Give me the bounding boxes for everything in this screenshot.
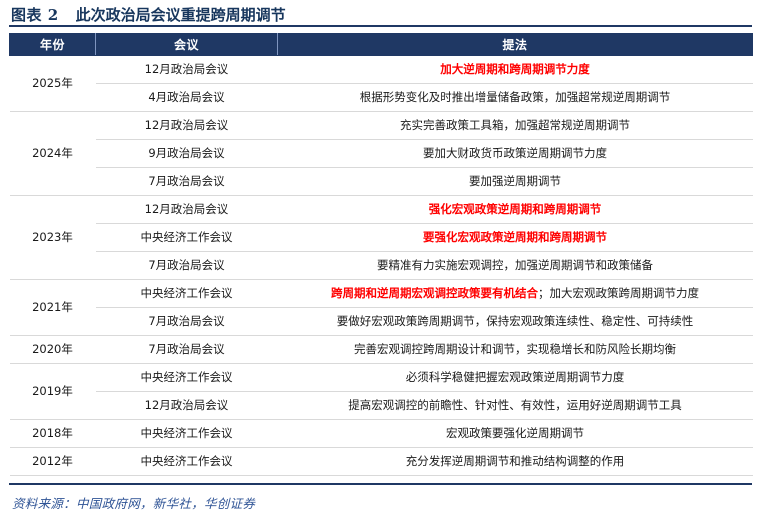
exhibit-number-label: 图表 2 [11, 4, 59, 25]
cell-quote: 要加强逆周期调节 [278, 168, 753, 196]
cell-meeting: 中央经济工作会议 [96, 280, 278, 308]
cell-meeting: 7月政治局会议 [96, 252, 278, 280]
cell-meeting: 12月政治局会议 [96, 56, 278, 84]
table-row: 中央经济工作会议要强化宏观政策逆周期和跨周期调节 [10, 224, 753, 252]
cell-year: 2021年 [10, 280, 96, 336]
cell-year: 2024年 [10, 112, 96, 196]
quote-plain: 要加大财政货币政策逆周期调节力度 [423, 146, 607, 160]
cell-year: 2025年 [10, 56, 96, 112]
cell-quote: 提高宏观调控的前瞻性、针对性、有效性，运用好逆周期调节工具 [278, 392, 753, 420]
cell-meeting: 7月政治局会议 [96, 336, 278, 364]
cell-meeting: 中央经济工作会议 [96, 364, 278, 392]
quote-plain: 完善宏观调控跨周期设计和调节，实现稳增长和防风险长期均衡 [354, 342, 676, 356]
exhibit-title-text: 此次政治局会议重提跨周期调节 [76, 4, 286, 25]
table-row: 2020年7月政治局会议完善宏观调控跨周期设计和调节，实现稳增长和防风险长期均衡 [10, 336, 753, 364]
cell-meeting: 12月政治局会议 [96, 392, 278, 420]
quote-plain: 必须科学稳健把握宏观政策逆周期调节力度 [406, 370, 625, 384]
column-header-year: 年份 [10, 34, 96, 56]
cell-year: 2023年 [10, 196, 96, 280]
table-row: 2024年12月政治局会议充实完善政策工具箱，加强超常规逆周期调节 [10, 112, 753, 140]
cell-year: 2020年 [10, 336, 96, 364]
table-row: 7月政治局会议要加强逆周期调节 [10, 168, 753, 196]
quote-plain: 充实完善政策工具箱，加强超常规逆周期调节 [400, 118, 630, 132]
table-row: 2023年12月政治局会议强化宏观政策逆周期和跨周期调节 [10, 196, 753, 224]
quote-highlight: 加大逆周期和跨周期调节力度 [440, 62, 590, 76]
cell-meeting: 7月政治局会议 [96, 168, 278, 196]
column-header-meeting: 会议 [96, 34, 278, 56]
table-row: 2021年中央经济工作会议跨周期和逆周期宏观调控政策要有机结合；加大宏观政策跨周… [10, 280, 753, 308]
quote-plain: 充分发挥逆周期调节和推动结构调整的作用 [406, 454, 625, 468]
column-header-quote: 提法 [278, 34, 753, 56]
cell-meeting: 7月政治局会议 [96, 308, 278, 336]
quote-plain: 要做好宏观政策跨周期调节，保持宏观政策连续性、稳定性、可持续性 [337, 314, 694, 328]
quote-plain: ；加大宏观政策跨周期调节力度 [538, 286, 699, 300]
cell-meeting: 9月政治局会议 [96, 140, 278, 168]
cell-meeting: 中央经济工作会议 [96, 224, 278, 252]
cell-meeting: 中央经济工作会议 [96, 448, 278, 476]
quote-plain: 要精准有力实施宏观调控，加强逆周期调节和政策储备 [377, 258, 653, 272]
cell-quote: 强化宏观政策逆周期和跨周期调节 [278, 196, 753, 224]
cell-year: 2012年 [10, 448, 96, 476]
table-row: 2012年中央经济工作会议充分发挥逆周期调节和推动结构调整的作用 [10, 448, 753, 476]
cell-quote: 根据形势变化及时推出增量储备政策，加强超常规逆周期调节 [278, 84, 753, 112]
cell-quote: 要做好宏观政策跨周期调节，保持宏观政策连续性、稳定性、可持续性 [278, 308, 753, 336]
table-row: 4月政治局会议根据形势变化及时推出增量储备政策，加强超常规逆周期调节 [10, 84, 753, 112]
table-body: 2025年12月政治局会议加大逆周期和跨周期调节力度4月政治局会议根据形势变化及… [10, 56, 753, 476]
cell-quote: 要强化宏观政策逆周期和跨周期调节 [278, 224, 753, 252]
cell-meeting: 中央经济工作会议 [96, 420, 278, 448]
chart-exhibit-page: 图表 2 此次政治局会议重提跨周期调节 年份 会议 提法 2025年12月政治局… [0, 0, 761, 478]
cell-quote: 宏观政策要强化逆周期调节 [278, 420, 753, 448]
cell-year: 2018年 [10, 420, 96, 448]
table-row: 2025年12月政治局会议加大逆周期和跨周期调节力度 [10, 56, 753, 84]
cell-quote: 加大逆周期和跨周期调节力度 [278, 56, 753, 84]
cell-year: 2019年 [10, 364, 96, 420]
table-header: 年份 会议 提法 [10, 34, 753, 56]
table-row: 7月政治局会议要做好宏观政策跨周期调节，保持宏观政策连续性、稳定性、可持续性 [10, 308, 753, 336]
cell-meeting: 12月政治局会议 [96, 196, 278, 224]
cell-quote: 跨周期和逆周期宏观调控政策要有机结合；加大宏观政策跨周期调节力度 [278, 280, 753, 308]
table-row: 2019年中央经济工作会议必须科学稳健把握宏观政策逆周期调节力度 [10, 364, 753, 392]
table-row: 7月政治局会议要精准有力实施宏观调控，加强逆周期调节和政策储备 [10, 252, 753, 280]
quote-plain: 提高宏观调控的前瞻性、针对性、有效性，运用好逆周期调节工具 [348, 398, 682, 412]
cell-quote: 完善宏观调控跨周期设计和调节，实现稳增长和防风险长期均衡 [278, 336, 753, 364]
cell-quote: 充实完善政策工具箱，加强超常规逆周期调节 [278, 112, 753, 140]
quote-plain: 宏观政策要强化逆周期调节 [446, 426, 584, 440]
quote-highlight: 跨周期和逆周期宏观调控政策要有机结合 [331, 286, 538, 300]
policy-statements-table: 年份 会议 提法 2025年12月政治局会议加大逆周期和跨周期调节力度4月政治局… [9, 33, 753, 476]
cell-quote: 要精准有力实施宏观调控，加强逆周期调节和政策储备 [278, 252, 753, 280]
cell-quote: 要加大财政货币政策逆周期调节力度 [278, 140, 753, 168]
table-row: 12月政治局会议提高宏观调控的前瞻性、针对性、有效性，运用好逆周期调节工具 [10, 392, 753, 420]
quote-highlight: 要强化宏观政策逆周期和跨周期调节 [423, 230, 607, 244]
table-row: 9月政治局会议要加大财政货币政策逆周期调节力度 [10, 140, 753, 168]
cell-quote: 充分发挥逆周期调节和推动结构调整的作用 [278, 448, 753, 476]
quote-plain: 要加强逆周期调节 [469, 174, 561, 188]
cell-quote: 必须科学稳健把握宏观政策逆周期调节力度 [278, 364, 753, 392]
table-header-row: 年份 会议 提法 [10, 34, 753, 56]
quote-plain: 根据形势变化及时推出增量储备政策，加强超常规逆周期调节 [360, 90, 671, 104]
table-row: 2018年中央经济工作会议宏观政策要强化逆周期调节 [10, 420, 753, 448]
title-divider-rule [9, 25, 752, 27]
cell-meeting: 4月政治局会议 [96, 84, 278, 112]
quote-highlight: 强化宏观政策逆周期和跨周期调节 [429, 202, 602, 216]
source-note: 资料来源：中国政府网，新华社，华创证券 [9, 485, 752, 512]
cell-meeting: 12月政治局会议 [96, 112, 278, 140]
exhibit-title: 图表 2 此次政治局会议重提跨周期调节 [9, 0, 752, 25]
